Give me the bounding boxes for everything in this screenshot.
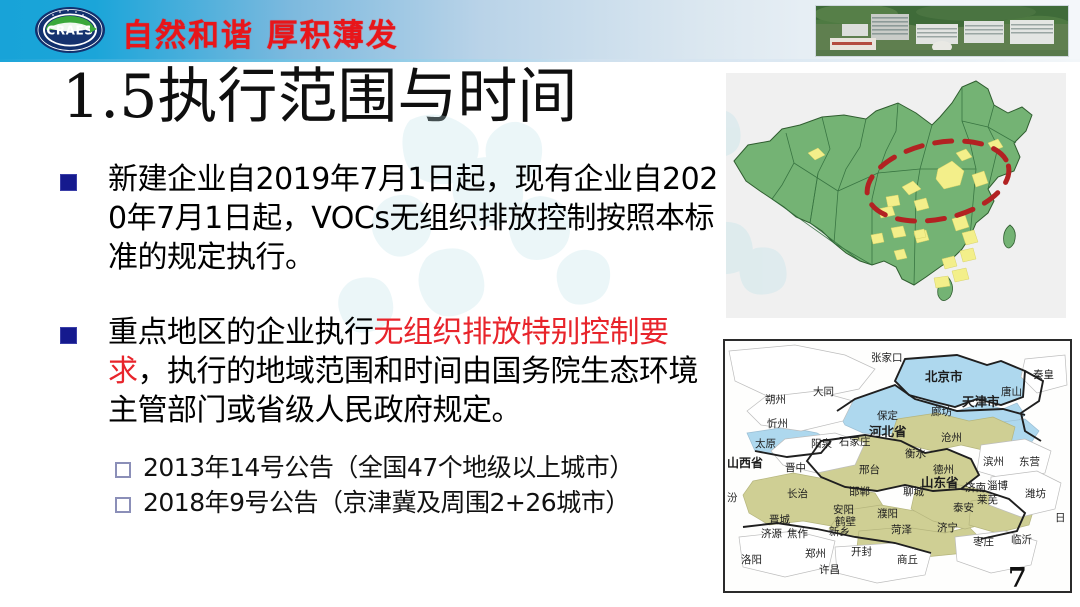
svg-text:晋城: 晋城: [769, 514, 790, 526]
bullet-1-segment-1: 新建企业自2019年7月1日起，现有企业自2020年7月1日起，VOCs无组织排…: [108, 162, 718, 275]
svg-text:太原: 太原: [755, 437, 776, 450]
svg-text:潍坊: 潍坊: [1025, 487, 1047, 500]
svg-text:济宁: 济宁: [937, 521, 958, 534]
svg-text:唐山: 唐山: [1001, 385, 1022, 398]
bullet-2-segment-3: ，执行的地域范围和时间由国务院生态环境主管部门或省级人民政府规定。: [108, 354, 698, 428]
svg-text:天津市: 天津市: [962, 394, 1000, 409]
svg-text:朔州: 朔州: [765, 393, 786, 406]
svg-text:大同: 大同: [813, 385, 834, 398]
bullet-2-segment-1: 重点地区的企业执行: [108, 315, 374, 350]
page-number: 7: [1008, 563, 1027, 594]
svg-text:阳泉: 阳泉: [811, 437, 832, 450]
svg-text:许昌: 许昌: [819, 563, 840, 576]
china-national-map: [726, 73, 1066, 318]
sub-bullet-item-2: 2018年9号公告（京津冀及周围2+26城市）: [115, 487, 720, 520]
svg-text:滨州: 滨州: [983, 455, 1004, 468]
svg-text:山西省: 山西省: [727, 455, 763, 470]
svg-text:衡水: 衡水: [905, 448, 926, 460]
svg-text:秦皇: 秦皇: [1033, 368, 1054, 381]
bullet-item-2: 重点地区的企业执行无组织排放特别控制要求，执行的地域范围和时间由国务院生态环境主…: [60, 313, 720, 430]
bullet-item-1: 新建企业自2019年7月1日起，现有企业自2020年7月1日起，VOCs无组织排…: [60, 160, 720, 277]
svg-text:安阳: 安阳: [833, 503, 854, 516]
svg-text:东营: 东营: [1019, 455, 1040, 468]
svg-text:焦作: 焦作: [787, 527, 808, 540]
page-title: 1.5执行范围与时间: [62, 66, 577, 129]
svg-text:济南: 济南: [965, 481, 986, 494]
bullet-text-1: 新建企业自2019年7月1日起，现有企业自2020年7月1日起，VOCs无组织排…: [108, 160, 720, 277]
svg-text:枣庄: 枣庄: [973, 535, 994, 548]
sub-bullet-text-1: 2013年14号公告（全国47个地级以上城市）: [143, 452, 720, 485]
svg-text:郑州: 郑州: [805, 547, 826, 560]
svg-text:山东省: 山东省: [921, 475, 959, 490]
square-bullet-icon: [60, 327, 77, 344]
svg-text:邢台: 邢台: [859, 463, 880, 476]
svg-text:CRAES: CRAES: [46, 24, 93, 38]
svg-text:泰安: 泰安: [953, 501, 974, 514]
svg-text:廊坊: 廊坊: [931, 405, 952, 418]
svg-text:张家口: 张家口: [871, 351, 903, 364]
jingjinji-regional-map: 张家口 北京市 天津市 唐山 秦皇 大同 朔州 忻州 保定 廊坊 河北省 沧州 …: [723, 339, 1072, 593]
svg-text:沧州: 沧州: [941, 431, 962, 444]
svg-text:忻州: 忻州: [767, 417, 788, 430]
campus-aerial-photo: [815, 5, 1069, 57]
svg-text:北京市: 北京市: [925, 369, 963, 384]
content-body: 新建企业自2019年7月1日起，现有企业自2020年7月1日起，VOCs无组织排…: [60, 160, 720, 521]
svg-text:菏泽: 菏泽: [891, 524, 912, 536]
svg-text:临沂: 临沂: [1011, 533, 1033, 546]
slide-root: CRAES 自然和谐 厚积薄发: [0, 0, 1080, 607]
svg-text:莱芜: 莱芜: [977, 493, 998, 506]
svg-text:石家庄: 石家庄: [839, 435, 871, 448]
svg-text:长治: 长治: [787, 487, 808, 500]
svg-text:汾: 汾: [727, 492, 738, 504]
header-slogan: 自然和谐 厚积薄发: [122, 10, 399, 55]
square-bullet-icon: [60, 174, 77, 191]
sub-bullet-list: 2013年14号公告（全国47个地级以上城市） 2018年9号公告（京津冀及周围…: [115, 452, 720, 519]
svg-text:日: 日: [1055, 512, 1066, 524]
svg-text:保定: 保定: [877, 409, 898, 422]
svg-text:洛阳: 洛阳: [741, 553, 762, 566]
hollow-square-bullet-icon: [115, 497, 131, 513]
svg-text:濮阳: 濮阳: [877, 507, 898, 520]
svg-text:河北省: 河北省: [869, 424, 907, 439]
svg-text:济源: 济源: [761, 527, 782, 540]
svg-text:开封: 开封: [851, 545, 872, 558]
bullet-text-2: 重点地区的企业执行无组织排放特别控制要求，执行的地域范围和时间由国务院生态环境主…: [108, 313, 720, 430]
sub-bullet-text-2: 2018年9号公告（京津冀及周围2+26城市）: [143, 487, 720, 520]
hollow-square-bullet-icon: [115, 462, 131, 478]
svg-text:新乡: 新乡: [829, 525, 850, 538]
svg-text:晋中: 晋中: [785, 461, 806, 474]
svg-text:邯郸: 邯郸: [849, 485, 870, 498]
sub-bullet-item-1: 2013年14号公告（全国47个地级以上城市）: [115, 452, 720, 485]
svg-text:商丘: 商丘: [897, 553, 918, 566]
svg-text:淄博: 淄博: [987, 479, 1008, 492]
craes-logo: CRAES: [33, 6, 107, 54]
